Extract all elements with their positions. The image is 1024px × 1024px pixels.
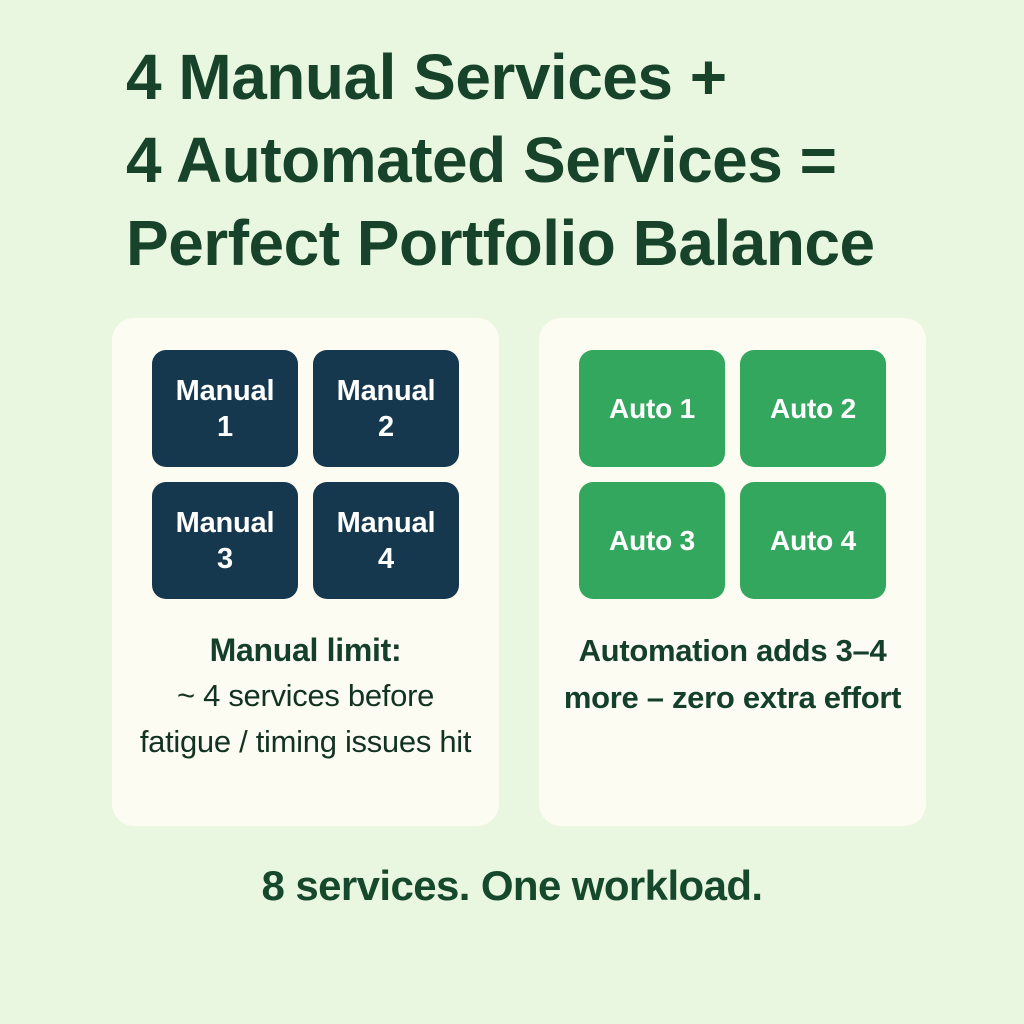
auto-chip-grid: Auto 1 Auto 2 Auto 3 Auto 4 [579, 350, 886, 599]
auto-chip-4: Auto 4 [740, 482, 886, 599]
manual-caption: Manual limit: ~ 4 services before fatigu… [134, 627, 477, 765]
headline-line-3: Perfect Portfolio Balance [126, 202, 956, 285]
manual-chip-grid: Manual1 Manual2 Manual3 Manual4 [152, 350, 459, 599]
automation-caption: Automation adds 3–4 more – zero extra ef… [561, 627, 904, 721]
manual-chip-3-label: Manual3 [176, 505, 275, 577]
automated-services-panel: Auto 1 Auto 2 Auto 3 Auto 4 Automation a… [539, 318, 926, 826]
auto-chip-1: Auto 1 [579, 350, 725, 467]
auto-chip-3: Auto 3 [579, 482, 725, 599]
headline-line-1: 4 Manual Services + [126, 36, 956, 119]
manual-caption-body: ~ 4 services before fatigue / timing iss… [134, 673, 477, 765]
auto-chip-3-label: Auto 3 [609, 523, 695, 559]
auto-chip-1-label: Auto 1 [609, 391, 695, 427]
manual-caption-heading: Manual limit: [134, 627, 477, 673]
footer-tagline: 8 services. One workload. [0, 862, 1024, 910]
auto-chip-2: Auto 2 [740, 350, 886, 467]
manual-chip-2-label: Manual2 [337, 373, 436, 445]
manual-chip-3: Manual3 [152, 482, 298, 599]
manual-chip-4-label: Manual4 [337, 505, 436, 577]
automation-caption-body: Automation adds 3–4 more – zero extra ef… [561, 627, 904, 721]
infographic-poster: 4 Manual Services + 4 Automated Services… [0, 0, 1024, 1024]
manual-chip-2: Manual2 [313, 350, 459, 467]
panels-row: Manual1 Manual2 Manual3 Manual4 Manual l… [112, 318, 926, 826]
page-title: 4 Manual Services + 4 Automated Services… [126, 36, 956, 285]
headline-line-2: 4 Automated Services = [126, 119, 956, 202]
manual-chip-4: Manual4 [313, 482, 459, 599]
auto-chip-2-label: Auto 2 [770, 391, 856, 427]
manual-chip-1: Manual1 [152, 350, 298, 467]
auto-chip-4-label: Auto 4 [770, 523, 856, 559]
manual-chip-1-label: Manual1 [176, 373, 275, 445]
manual-services-panel: Manual1 Manual2 Manual3 Manual4 Manual l… [112, 318, 499, 826]
